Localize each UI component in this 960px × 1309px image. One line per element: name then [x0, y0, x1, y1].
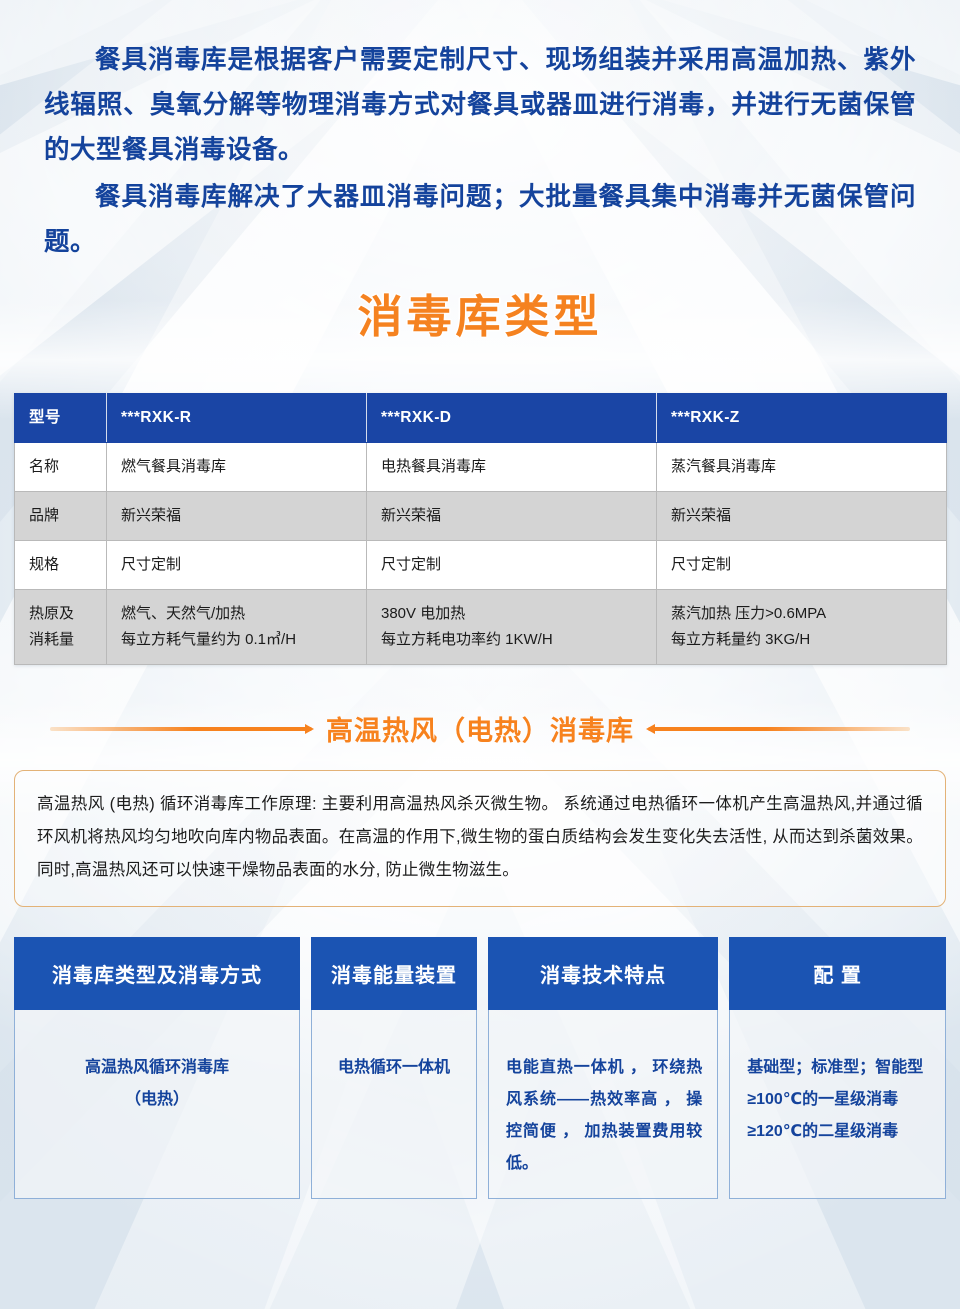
cell-line: 蒸汽加热 压力>0.6MPA	[671, 601, 932, 627]
card-energy-device[interactable]: 消毒能量装置 电热循环一体机	[311, 938, 477, 1199]
cell-line: 每立方耗量约 3KG/H	[671, 627, 932, 653]
card-body-line: 电热循环一体机	[326, 1052, 462, 1084]
description-box: 高温热风 (电热) 循环消毒库工作原理: 主要利用高温热风杀灭微生物。 系统通过…	[14, 770, 946, 907]
row-label: 品牌	[15, 492, 107, 541]
card-body: 电能直热一体机 ， 环绕热风系统——热效率高 ， 操控简便 ， 加热装置费用较低…	[489, 1010, 717, 1198]
row-cell-z: 蒸汽餐具消毒库	[657, 443, 947, 492]
table-header-cell-2: ***RXK-D	[367, 394, 657, 443]
table-header-cell-0: 型号	[15, 394, 107, 443]
row-cell-z: 新兴荣福	[657, 492, 947, 541]
rule-left-bar	[50, 727, 312, 731]
row-cell-r: 尺寸定制	[107, 541, 367, 590]
card-configuration[interactable]: 配 置 基础型；标准型；智能型 ≥100℃的一星级消毒 ≥120℃的二星级消毒	[729, 938, 946, 1199]
card-title: 消毒能量装置	[311, 937, 477, 1010]
row-cell-r: 燃气、天然气/加热 每立方耗气量约为 0.1㎥/H	[107, 590, 367, 665]
page-content: 餐具消毒库是根据客户需要定制尺寸、现场组装并采用高温加热、紫外线辐照、臭氧分解等…	[0, 0, 960, 1199]
card-body: 基础型；标准型；智能型 ≥100℃的一星级消毒 ≥120℃的二星级消毒	[730, 1010, 945, 1198]
section-subtitle: 高温热风（电热）消毒库	[326, 709, 634, 748]
row-cell-r: 燃气餐具消毒库	[107, 443, 367, 492]
row-cell-d: 新兴荣福	[367, 492, 657, 541]
card-title: 消毒技术特点	[488, 937, 718, 1010]
arrow-right-icon	[305, 724, 314, 734]
card-title: 配 置	[729, 937, 946, 1010]
card-body: 电热循环一体机	[312, 1010, 476, 1198]
card-body: 高温热风循环消毒库 （电热）	[15, 1010, 299, 1198]
table-header-cell-1: ***RXK-R	[107, 394, 367, 443]
card-body-line: （电热）	[29, 1084, 285, 1116]
spec-table: 型号 ***RXK-R ***RXK-D ***RXK-Z 名称 燃气餐具消毒库…	[14, 393, 947, 665]
row-cell-z: 尺寸定制	[657, 541, 947, 590]
row-cell-d: 380V 电加热 每立方耗电功率约 1KW/H	[367, 590, 657, 665]
row-label: 规格	[15, 541, 107, 590]
rule-right-decoration	[648, 727, 910, 731]
spec-table-wrapper: 型号 ***RXK-R ***RXK-D ***RXK-Z 名称 燃气餐具消毒库…	[14, 393, 946, 665]
description-text: 高温热风 (电热) 循环消毒库工作原理: 主要利用高温热风杀灭微生物。 系统通过…	[37, 788, 923, 887]
card-body-line: 基础型；标准型；智能型	[747, 1052, 931, 1084]
row-label-line: 热原及	[29, 601, 92, 627]
table-row: 名称 燃气餐具消毒库 电热餐具消毒库 蒸汽餐具消毒库	[15, 443, 947, 492]
intro-block: 餐具消毒库是根据客户需要定制尺寸、现场组装并采用高温加热、紫外线辐照、臭氧分解等…	[0, 0, 960, 265]
section-heading-with-rules: 高温热风（电热）消毒库	[24, 709, 936, 748]
card-body-line: 高温热风循环消毒库	[29, 1052, 285, 1084]
table-row: 规格 尺寸定制 尺寸定制 尺寸定制	[15, 541, 947, 590]
arrow-left-icon	[646, 724, 655, 734]
card-body-line: ≥100℃的一星级消毒	[747, 1084, 931, 1116]
rule-left-decoration	[50, 727, 312, 731]
table-header-cell-3: ***RXK-Z	[657, 394, 947, 443]
row-cell-r: 新兴荣福	[107, 492, 367, 541]
table-header-row: 型号 ***RXK-R ***RXK-D ***RXK-Z	[15, 394, 947, 443]
page-title: 消毒库类型	[0, 289, 960, 345]
spec-table-body: 名称 燃气餐具消毒库 电热餐具消毒库 蒸汽餐具消毒库 品牌 新兴荣福 新兴荣福 …	[15, 443, 947, 665]
row-label-line: 消耗量	[29, 627, 92, 653]
intro-paragraph-2: 餐具消毒库解决了大器皿消毒问题；大批量餐具集中消毒并无菌保管问题。	[44, 175, 916, 265]
row-label: 名称	[15, 443, 107, 492]
card-body-line: ≥120℃的二星级消毒	[747, 1116, 931, 1148]
cell-line: 燃气、天然气/加热	[121, 601, 352, 627]
card-disinfection-type[interactable]: 消毒库类型及消毒方式 高温热风循环消毒库 （电热）	[14, 938, 300, 1199]
table-row: 热原及 消耗量 燃气、天然气/加热 每立方耗气量约为 0.1㎥/H 380V 电…	[15, 590, 947, 665]
cell-line: 每立方耗电功率约 1KW/H	[381, 627, 642, 653]
row-cell-d: 尺寸定制	[367, 541, 657, 590]
row-cell-z: 蒸汽加热 压力>0.6MPA 每立方耗量约 3KG/H	[657, 590, 947, 665]
row-label: 热原及 消耗量	[15, 590, 107, 665]
rule-right-bar	[648, 727, 910, 731]
spec-table-head: 型号 ***RXK-R ***RXK-D ***RXK-Z	[15, 394, 947, 443]
card-title: 消毒库类型及消毒方式	[14, 937, 300, 1010]
cell-line: 每立方耗气量约为 0.1㎥/H	[121, 627, 352, 653]
row-cell-d: 电热餐具消毒库	[367, 443, 657, 492]
poster-page: 餐具消毒库是根据客户需要定制尺寸、现场组装并采用高温加热、紫外线辐照、臭氧分解等…	[0, 0, 960, 1309]
intro-paragraph-1: 餐具消毒库是根据客户需要定制尺寸、现场组装并采用高温加热、紫外线辐照、臭氧分解等…	[44, 38, 916, 173]
feature-cards: 消毒库类型及消毒方式 高温热风循环消毒库 （电热） 消毒能量装置 电热循环一体机…	[14, 938, 946, 1199]
card-technical-features[interactable]: 消毒技术特点 电能直热一体机 ， 环绕热风系统——热效率高 ， 操控简便 ， 加…	[488, 938, 718, 1199]
table-row: 品牌 新兴荣福 新兴荣福 新兴荣福	[15, 492, 947, 541]
cell-line: 380V 电加热	[381, 601, 642, 627]
